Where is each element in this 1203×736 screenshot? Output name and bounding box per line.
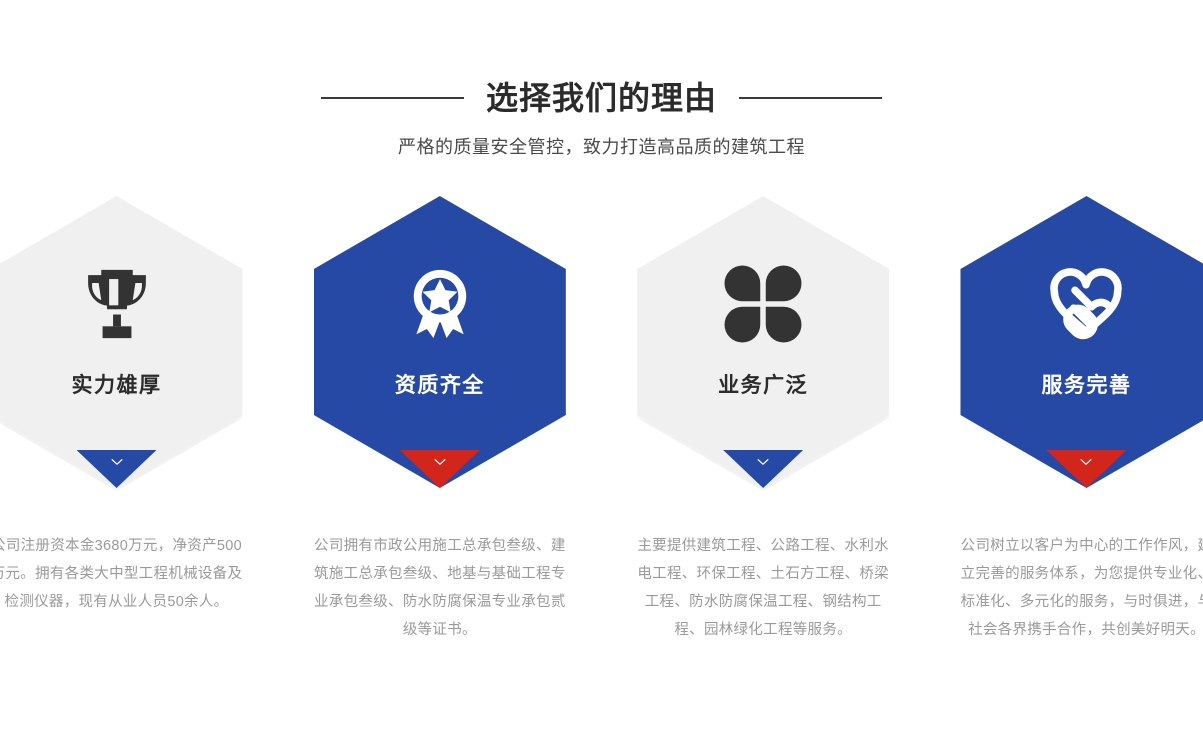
- linked-heart-icon: [1038, 256, 1134, 352]
- chevron-down-icon: [1079, 458, 1093, 466]
- section-header: 选择我们的理由 严格的质量安全管控，致力打造高品质的建筑工程: [0, 78, 1203, 160]
- chevron-down-icon: [756, 458, 770, 466]
- trophy-icon: [69, 256, 165, 352]
- feature-card[interactable]: 资质齐全 公司拥有市政公用施工总承包叁级、建筑施工总承包叁级、地基与基础工程专业…: [298, 196, 581, 644]
- card-title: 资质齐全: [395, 372, 485, 400]
- chevron-down-icon: [433, 458, 447, 466]
- hexagon-badge[interactable]: 实力雄厚: [0, 196, 243, 488]
- reasons-section: 选择我们的理由 严格的质量安全管控，致力打造高品质的建筑工程: [0, 0, 1203, 736]
- feature-card[interactable]: 服务完善 公司树立以客户为中心的工作作风，建立完善的服务体系，为您提供专业化、标…: [945, 196, 1203, 644]
- card-description: 主要提供建筑工程、公路工程、水利水电工程、环保工程、土石方工程、桥梁工程、防水防…: [637, 532, 889, 644]
- card-description: 公司注册资本金3680万元，净资产500万元。拥有各类大中型工程机械设备及检测仪…: [0, 532, 243, 616]
- hexagon-content: 实力雄厚: [0, 196, 243, 488]
- left-rule-decoration: [321, 97, 464, 99]
- feature-card-list: 实力雄厚 公司注册资本金3680万元，净资产500万元。拥有各类大中型工程机械设…: [0, 196, 1203, 716]
- hexagon-content: 资质齐全: [314, 196, 566, 488]
- card-description: 公司树立以客户为中心的工作作风，建立完善的服务体系，为您提供专业化、标准化、多元…: [960, 532, 1203, 644]
- hexagon-content: 服务完善: [960, 196, 1203, 488]
- card-title: 服务完善: [1041, 372, 1131, 400]
- hexagon-badge[interactable]: 业务广泛: [637, 196, 889, 488]
- right-rule-decoration: [739, 97, 882, 99]
- title-row: 选择我们的理由: [0, 78, 1203, 118]
- feature-card[interactable]: 业务广泛 主要提供建筑工程、公路工程、水利水电工程、环保工程、土石方工程、桥梁工…: [622, 196, 905, 644]
- hexagon-badge[interactable]: 资质齐全: [314, 196, 566, 488]
- card-title: 业务广泛: [718, 372, 808, 400]
- hexagon-badge[interactable]: 服务完善: [960, 196, 1203, 488]
- medal-ribbon-icon: [392, 256, 488, 352]
- card-description: 公司拥有市政公用施工总承包叁级、建筑施工总承包叁级、地基与基础工程专业承包叁级、…: [314, 532, 566, 644]
- page-title: 选择我们的理由: [486, 78, 717, 118]
- page-subtitle: 严格的质量安全管控，致力打造高品质的建筑工程: [0, 134, 1203, 160]
- hexagon-content: 业务广泛: [637, 196, 889, 488]
- card-title: 实力雄厚: [72, 372, 162, 400]
- feature-card[interactable]: 实力雄厚 公司注册资本金3680万元，净资产500万元。拥有各类大中型工程机械设…: [0, 196, 258, 616]
- chevron-down-icon: [110, 458, 124, 466]
- clover-icon: [715, 256, 811, 352]
